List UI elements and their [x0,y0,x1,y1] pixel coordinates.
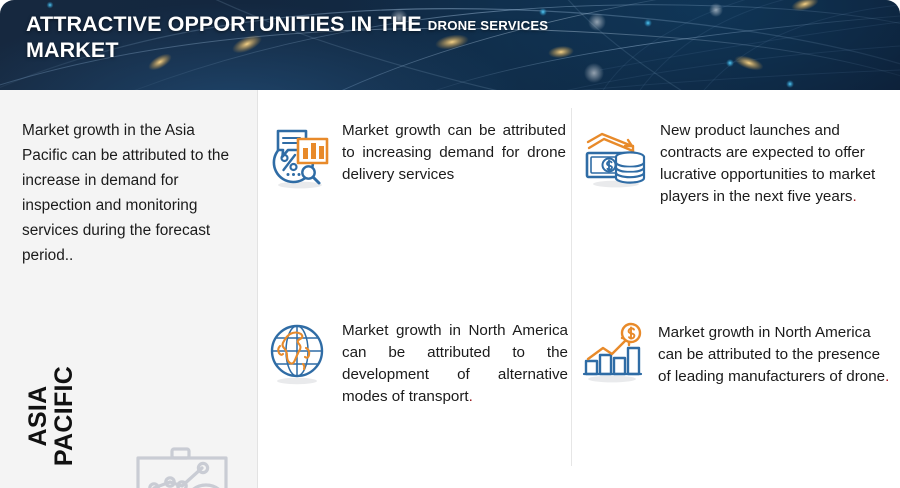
money-cash-coins-icon [580,122,652,194]
market-analysis-percent-icon [262,122,334,194]
opportunity-text: Market growth in North America can be at… [658,322,890,388]
body-area: Market growth in the Asia Pacific can be… [0,90,900,488]
page-title-main: ATTRACTIVE OPPORTUNITIES IN THE [26,12,428,36]
globe-icon [262,318,334,390]
left-summary-panel: Market growth in the Asia Pacific can be… [0,90,258,488]
opportunity-text: New product launches and contracts are e… [660,120,892,208]
trailing-period: . [852,188,856,205]
trailing-period: . [885,368,889,385]
page-title-subject: DRONE SERVICES [428,18,549,33]
opportunity-cell-leading-manufacturers: Market growth in North America can be at… [578,318,898,390]
opportunity-text: Market growth can be attributed to incre… [342,120,566,186]
presentation-chart-magnifier-icon [118,442,246,488]
region-label: ASIA PACIFIC [25,331,77,488]
growth-chart-dollar-icon [578,318,650,390]
opportunity-text: Market growth in North America can be at… [342,320,568,408]
opportunity-cell-alternative-transport-modes: Market growth in North America can be at… [262,318,568,408]
page-title-tail: MARKET [26,38,119,62]
left-panel-paragraph: Market growth in the Asia Pacific can be… [22,118,240,268]
trailing-period: . [469,388,473,405]
infographic-canvas: ATTRACTIVE OPPORTUNITIES IN THE DRONE SE… [0,0,900,488]
opportunity-cell-drone-delivery-demand: Market growth can be attributed to incre… [262,122,568,194]
column-divider [571,108,572,466]
header-banner: ATTRACTIVE OPPORTUNITIES IN THE DRONE SE… [0,0,900,90]
content-grid: Market growth can be attributed to incre… [258,90,900,488]
opportunity-cell-new-product-launches: New product launches and contracts are e… [580,122,898,208]
page-title: ATTRACTIVE OPPORTUNITIES IN THE DRONE SE… [26,12,646,63]
